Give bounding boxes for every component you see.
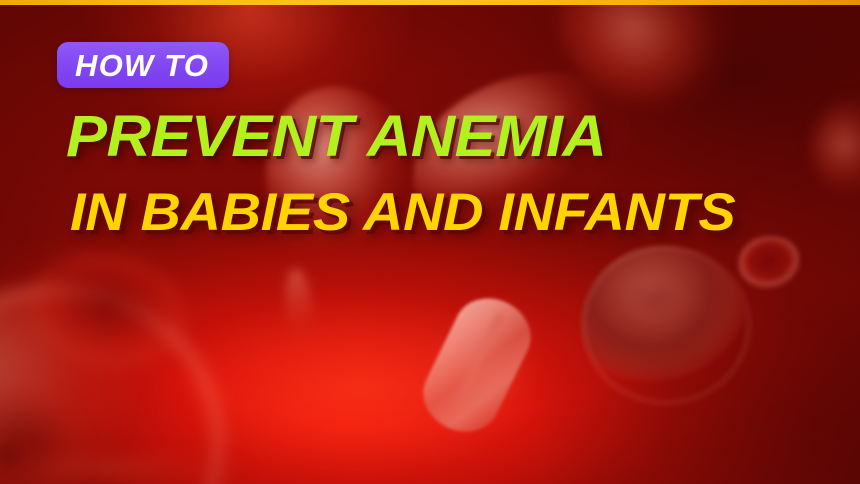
- headline-line-2: IN BABIES AND INFANTS: [70, 186, 735, 239]
- gold-accent-bar: [0, 0, 860, 5]
- how-to-badge-label: HOW TO: [75, 50, 209, 81]
- title-text-block: HOW TO PREVENT ANEMIA IN BABIES AND INFA…: [0, 0, 860, 484]
- headline-line-1: PREVENT ANEMIA: [66, 108, 606, 166]
- how-to-badge: HOW TO: [57, 42, 229, 88]
- thumbnail-canvas: HOW TO PREVENT ANEMIA IN BABIES AND INFA…: [0, 0, 860, 484]
